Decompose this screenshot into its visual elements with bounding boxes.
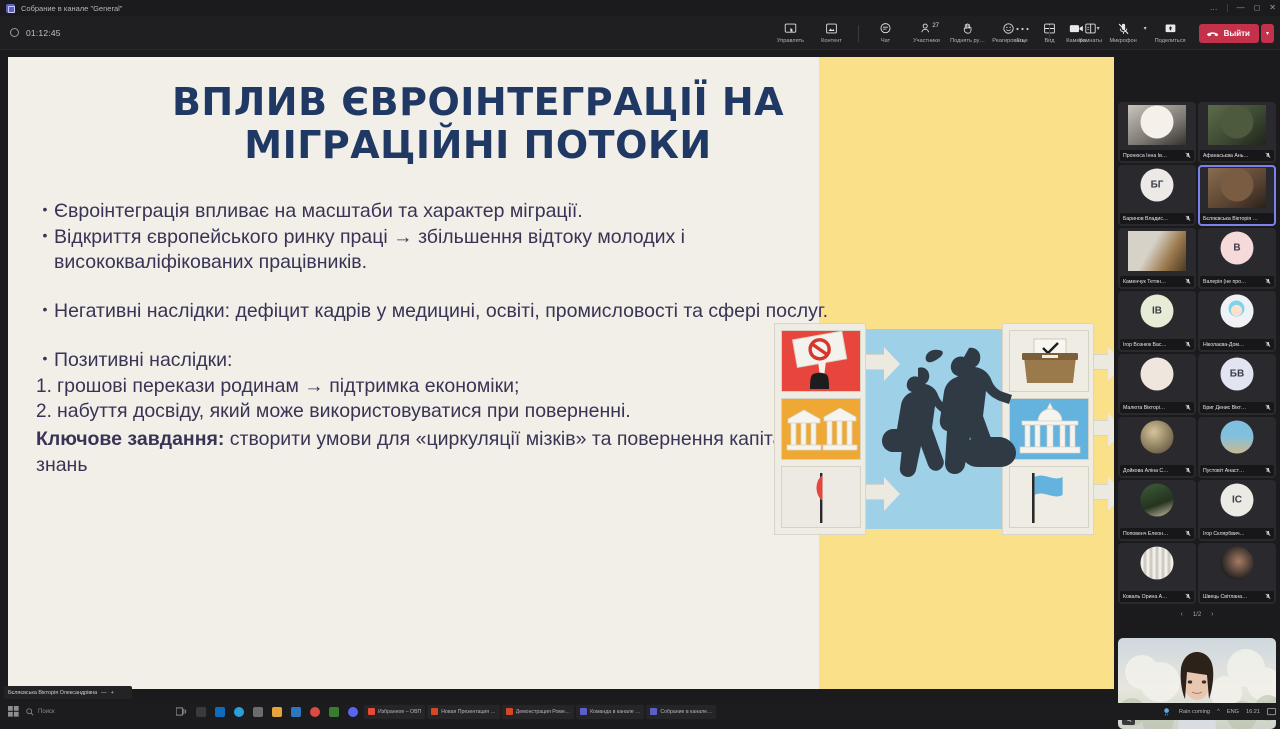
teams-app-icon xyxy=(6,4,15,13)
key-task-row: Ключове завдання: створити умови для «ци… xyxy=(36,427,836,478)
microphone-muted-icon xyxy=(1185,530,1191,537)
participant-tile[interactable]: ІС Ігор Склярбвич… xyxy=(1198,480,1276,541)
presenter-tab-minimize-icon[interactable]: — xyxy=(101,690,106,696)
teams-icon xyxy=(580,708,587,715)
participant-tile[interactable]: Поповенч Елеон… xyxy=(1118,480,1196,541)
avatar-initials: В xyxy=(1221,232,1254,265)
participant-name: Ніколаєва-Дом… xyxy=(1203,342,1263,348)
manage-icon xyxy=(784,22,797,35)
avatar xyxy=(1221,547,1254,580)
numbered-item: 2. набуття досвіду, який може використов… xyxy=(36,399,836,425)
people-icon xyxy=(920,22,933,35)
participant-name-badge: Валерія (не про… xyxy=(1200,276,1274,287)
app-icon-gray[interactable] xyxy=(253,707,263,717)
taskbar-window-button[interactable]: Избранное – ОВП xyxy=(364,705,425,719)
participant-name-badge: Бєляєвська Вікторія … xyxy=(1200,213,1274,224)
participant-tile[interactable]: Ніколаєва-Дом… xyxy=(1198,291,1276,352)
window-titlebar: Собрание в канале "General" … — ◻ ✕ xyxy=(0,0,1280,16)
more-label: Еще xyxy=(1016,38,1027,44)
toolbar-divider-2 xyxy=(1049,25,1050,42)
share-button[interactable]: Поделиться xyxy=(1150,16,1191,50)
participants-label: Участники xyxy=(913,38,940,44)
government-buildings-icon xyxy=(781,398,861,460)
language-indicator[interactable]: ENG xyxy=(1227,709,1239,715)
bullet-item: • Негативні наслідки: дефіцит кадрів у м… xyxy=(36,299,836,325)
two-running-people-silhouette xyxy=(872,341,1024,527)
participant-name: Бєляєвська Вікторія … xyxy=(1203,216,1271,222)
shared-presentation-slide[interactable]: ВПЛИВ ЄВРОІНТЕГРАЦІЇ НА МІГРАЦІЙНІ ПОТОК… xyxy=(8,57,1114,689)
microphone-muted-icon xyxy=(1185,467,1191,474)
chrome-icon[interactable] xyxy=(310,707,320,717)
chevron-right-icon[interactable]: › xyxy=(1211,611,1213,618)
microphone-muted-icon xyxy=(1185,278,1191,285)
chat-icon xyxy=(879,22,892,35)
bullet-item: • Відкриття європейського ринку праці → … xyxy=(36,225,836,276)
participants-pager: ‹ 1/2 › xyxy=(1118,606,1276,618)
participants-page-indicator: 1/2 xyxy=(1193,612,1201,618)
app-icon-green[interactable] xyxy=(329,707,339,717)
participant-name: Пронюса Інна Ів… xyxy=(1123,153,1183,159)
content-icon xyxy=(825,22,838,35)
avatar xyxy=(1141,358,1174,391)
titlebar-more-icon[interactable]: … xyxy=(1210,4,1218,12)
participant-name: Баринов Владис… xyxy=(1123,216,1183,222)
numbered-marker: 2. xyxy=(36,399,57,424)
bullet-item: • Євроінтеграція впливає на масштаби та … xyxy=(36,199,836,225)
telegram-icon[interactable] xyxy=(234,707,244,717)
participant-name: Швець Світлана… xyxy=(1203,594,1263,600)
avatar xyxy=(1141,421,1174,454)
teams-icon xyxy=(650,708,657,715)
bullet-marker: • xyxy=(36,225,54,246)
avatar xyxy=(1221,106,1254,139)
spacer xyxy=(36,276,836,299)
taskbar-window-label: Избранное – ОВП xyxy=(378,709,421,715)
microphone-muted-icon xyxy=(1185,593,1191,600)
participant-name-badge: Ніколаєва-Дом… xyxy=(1200,339,1274,350)
leave-chevron-down-icon[interactable]: ▾ xyxy=(1261,24,1274,43)
discord-icon[interactable] xyxy=(348,707,358,717)
content-label: Контент xyxy=(821,38,842,44)
participant-name-badge: Каменчук Тетян… xyxy=(1120,276,1194,287)
chat-button[interactable]: Чат xyxy=(865,16,906,50)
participant-tile-active-speaker[interactable]: Бєляєвська Вікторія … xyxy=(1198,165,1276,226)
window-title: Собрание в канале "General" xyxy=(21,4,122,13)
microphone-muted-icon xyxy=(1265,467,1271,474)
meeting-timer-value: 01:12:45 xyxy=(26,28,61,38)
bullet-text: Євроінтеграція впливає на масштаби та ха… xyxy=(54,199,836,225)
participant-name: Каменчук Тетян… xyxy=(1123,279,1183,285)
leave-label: Выйти xyxy=(1224,29,1250,38)
bullet-marker: • xyxy=(36,199,54,220)
search-icon xyxy=(26,708,34,716)
phone-hangup-icon xyxy=(1206,29,1219,38)
avatar-initials: БВ xyxy=(1221,358,1254,391)
weather-icon xyxy=(1163,707,1172,716)
bullet-marker: • xyxy=(36,348,54,369)
avatar-initials: БГ xyxy=(1141,169,1174,202)
participant-tile[interactable]: Коваль Орина А… xyxy=(1118,543,1196,604)
taskbar-window-label: Собрание в канале… xyxy=(660,709,712,715)
avatar xyxy=(1141,484,1174,517)
share-screen-icon xyxy=(1164,22,1177,35)
app-icon-blue[interactable] xyxy=(291,707,301,717)
taskbar-pinned-icons xyxy=(166,707,358,717)
participant-name-badge: Ігор Вознюк Вас… xyxy=(1120,339,1194,350)
participant-name-badge: Малюта Вікторі… xyxy=(1120,402,1194,413)
bullet-marker: • xyxy=(36,299,54,320)
taskbar-open-windows: Избранное – ОВП Новая Презентация … Демо… xyxy=(358,705,716,719)
participant-name: Ігор Вознюк Вас… xyxy=(1123,342,1183,348)
participant-name: Дойкова Аліна С… xyxy=(1123,468,1183,474)
participant-name-badge: Афанасьєва Ань… xyxy=(1200,150,1274,161)
avatar-initials-text: ІВ xyxy=(1152,306,1162,317)
microphone-muted-icon xyxy=(1265,404,1271,411)
more-button[interactable]: Еще xyxy=(1002,16,1043,50)
toolbar-divider-1 xyxy=(858,25,859,42)
taskbar-search-placeholder: Поиск xyxy=(38,709,55,715)
bullet-text: Позитивні наслідки: xyxy=(54,348,836,374)
presenter-tab-add-icon[interactable]: + xyxy=(111,690,114,696)
participant-tile[interactable]: Каменчук Тетян… xyxy=(1118,228,1196,289)
microphone-muted-icon xyxy=(1265,278,1271,285)
tray-chevron-up-icon[interactable]: ^ xyxy=(1217,709,1220,715)
avatar xyxy=(1141,547,1174,580)
participant-name: Поповенч Елеон… xyxy=(1123,531,1183,537)
powerpoint-icon xyxy=(506,708,513,715)
participant-name-badge: Баринов Владис… xyxy=(1120,213,1194,224)
raise-hand-label: Поднять ру… xyxy=(950,38,985,44)
chevron-left-icon[interactable]: ‹ xyxy=(1180,611,1182,618)
participant-name-badge: Дойкова Аліна С… xyxy=(1120,465,1194,476)
key-task-label: Ключове завдання: xyxy=(36,428,224,450)
raise-hand-button[interactable]: Поднять ру… xyxy=(947,16,988,50)
avatar-initials-text: БГ xyxy=(1151,180,1164,191)
participant-name: Ігор Склярбвич… xyxy=(1203,531,1263,537)
participant-tile[interactable]: Малюта Вікторі… xyxy=(1118,354,1196,415)
chat-label: Чат xyxy=(881,38,890,44)
microphone-muted-icon xyxy=(1185,215,1191,222)
protest-sign-icon xyxy=(781,330,861,392)
numbered-marker: 1. xyxy=(36,374,57,399)
participant-name: Малюта Вікторі… xyxy=(1123,405,1183,411)
outlook-icon[interactable] xyxy=(215,707,225,717)
participant-tile[interactable]: БГ Баринов Владис… xyxy=(1118,165,1196,226)
taskbar-search[interactable]: Поиск xyxy=(26,708,166,716)
microphone-muted-icon xyxy=(1185,404,1191,411)
red-flag-icon xyxy=(781,466,861,528)
participant-video xyxy=(1128,231,1186,271)
bullet-item: • Позитивні наслідки: xyxy=(36,348,836,374)
participants-button[interactable]: 27 Участники xyxy=(906,16,947,50)
bullet-text: Відкриття європейського ринку праці → зб… xyxy=(54,225,836,276)
microphone-muted-icon xyxy=(1265,530,1271,537)
participant-name-badge: Пустовіт Анаст… xyxy=(1200,465,1274,476)
participants-rail[interactable]: Пронюса Інна Ів… Афанасьєва Ань… БГ Бари… xyxy=(1118,102,1278,618)
microphone-muted-icon xyxy=(1265,152,1271,159)
taskbar-window-button[interactable]: Собрание в канале… xyxy=(646,705,716,719)
bullet-text: Негативні наслідки: дефіцит кадрів у мед… xyxy=(54,299,836,325)
key-task-text: Ключове завдання: створити умови для «ци… xyxy=(36,427,836,478)
manage-button[interactable]: Управлять xyxy=(770,16,811,50)
window-controls: … — ◻ ✕ xyxy=(1210,0,1276,16)
avatar-initials: ІВ xyxy=(1141,295,1174,328)
slide-title: ВПЛИВ ЄВРОІНТЕГРАЦІЇ НА МІГРАЦІЙНІ ПОТОК… xyxy=(68,81,888,166)
numbered-item: 1. грошові перекази родинам → підтримка … xyxy=(36,374,836,400)
migration-flow-illustration xyxy=(768,315,1114,543)
origin-country-panel xyxy=(774,323,866,535)
taskbar-window-label: Новая Презентация … xyxy=(441,709,495,715)
numbered-text: набуття досвіду, який може використовува… xyxy=(57,399,836,425)
explorer-icon[interactable] xyxy=(272,707,282,717)
spacer xyxy=(36,325,836,348)
participant-name-badge: Бриг Денис Вікт… xyxy=(1200,402,1274,413)
avatar xyxy=(1221,169,1254,202)
meeting-toolbar: 01:12:45 Управлять Контент Чат 2 xyxy=(0,16,1280,50)
app-icon-dark[interactable] xyxy=(196,707,206,717)
meeting-stage: ВПЛИВ ЄВРОІНТЕГРАЦІЇ НА МІГРАЦІЙНІ ПОТОК… xyxy=(0,50,1280,684)
participant-tile[interactable]: Пронюса Інна Ів… xyxy=(1118,102,1196,163)
participant-tile[interactable]: БВ Бриг Денис Вікт… xyxy=(1198,354,1276,415)
numbered-text: грошові перекази родинам → підтримка еко… xyxy=(57,374,836,400)
presenter-name: Бєляєвська Вікторія Олександрівна xyxy=(8,690,97,696)
avatar xyxy=(1141,106,1174,139)
participant-name: Валерія (не про… xyxy=(1203,279,1263,285)
avatar-initials-text: В xyxy=(1233,243,1240,254)
participant-tile[interactable]: Швець Світлана… xyxy=(1198,543,1276,604)
clock[interactable]: 16:21 xyxy=(1246,709,1260,715)
maximize-icon[interactable]: ◻ xyxy=(1254,4,1261,12)
titlebar-divider xyxy=(1227,4,1228,12)
participant-tile[interactable]: Пустовіт Анаст… xyxy=(1198,417,1276,478)
anime-avatar-image xyxy=(1221,295,1254,328)
meeting-timer: 01:12:45 xyxy=(0,28,61,38)
manage-label: Управлять xyxy=(777,38,804,44)
weather-label[interactable]: Rain coming xyxy=(1179,709,1210,715)
taskbar-window-button[interactable]: Команда в канале … xyxy=(576,705,644,719)
taskbar-window-button[interactable]: Новая Презентация … xyxy=(427,705,499,719)
windows-taskbar: Поиск Избранное – ОВП Новая Презентация … xyxy=(0,703,1280,720)
windows-start-icon[interactable] xyxy=(0,706,26,717)
minimize-icon[interactable]: — xyxy=(1237,4,1245,12)
slide-body: • Євроінтеграція впливає на масштаби та … xyxy=(36,199,836,479)
microphone-muted-icon xyxy=(1117,22,1130,35)
avatar-initials-text: БВ xyxy=(1230,369,1244,380)
avatar-initials: ІС xyxy=(1221,484,1254,517)
microphone-button[interactable]: Микрофон xyxy=(1103,16,1144,50)
participant-tile[interactable]: Афанасьєва Ань… xyxy=(1198,102,1276,163)
taskbar-window-button[interactable]: Демонстрация Роме… xyxy=(502,705,574,719)
powerpoint-icon xyxy=(431,708,438,715)
microphone-muted-icon xyxy=(1265,593,1271,600)
task-view-icon[interactable] xyxy=(176,707,187,716)
share-label: Поделиться xyxy=(1155,38,1186,44)
notifications-icon xyxy=(1267,708,1276,716)
participant-name: Коваль Орина А… xyxy=(1123,594,1183,600)
participant-tile[interactable]: Дойкова Аліна С… xyxy=(1118,417,1196,478)
camera-icon xyxy=(1069,22,1084,35)
camera-label: Камера xyxy=(1066,38,1086,44)
avatar-initials-text: ІС xyxy=(1232,495,1242,506)
leave-button[interactable]: Выйти xyxy=(1199,24,1259,43)
participant-tile[interactable]: ІВ Ігор Вознюк Вас… xyxy=(1118,291,1196,352)
camera-button[interactable]: Камера xyxy=(1056,16,1097,50)
participant-name: Бриг Денис Вікт… xyxy=(1203,405,1263,411)
avatar xyxy=(1221,295,1254,328)
app-icon xyxy=(368,708,375,715)
avatar xyxy=(1221,421,1254,454)
participant-tile[interactable]: В Валерія (не про… xyxy=(1198,228,1276,289)
participant-name-badge: Коваль Орина А… xyxy=(1120,591,1194,602)
close-icon[interactable]: ✕ xyxy=(1269,4,1276,12)
raise-hand-icon xyxy=(961,22,974,35)
content-button[interactable]: Контент xyxy=(811,16,852,50)
system-tray: Rain coming ^ ENG 16:21 xyxy=(1163,707,1276,716)
presenter-name-tab[interactable]: Бєляєвська Вікторія Олександрівна — + xyxy=(4,686,132,699)
microphone-muted-icon xyxy=(1265,341,1271,348)
participant-name-badge: Пронюса Інна Ів… xyxy=(1120,150,1194,161)
participant-name-badge: Швець Світлана… xyxy=(1200,591,1274,602)
microphone-muted-icon xyxy=(1185,152,1191,159)
participant-name: Афанасьєва Ань… xyxy=(1203,153,1263,159)
microphone-label: Микрофон xyxy=(1109,38,1136,44)
participants-count-badge: 27 xyxy=(932,23,939,29)
microphone-muted-icon xyxy=(1185,341,1191,348)
shield-icon xyxy=(10,28,19,37)
taskbar-window-label: Демонстрация Роме… xyxy=(516,709,570,715)
taskbar-window-label: Команда в канале … xyxy=(590,709,640,715)
more-dots-icon xyxy=(1015,22,1030,35)
participant-name: Пустовіт Анаст… xyxy=(1203,468,1263,474)
participant-name-badge: Поповенч Елеон… xyxy=(1120,528,1194,539)
toolbar-right-group: Еще Камера ▾ Микрофон ▾ Поделиться Выйти xyxy=(1002,16,1274,50)
participant-name-badge: Ігор Склярбвич… xyxy=(1200,528,1274,539)
